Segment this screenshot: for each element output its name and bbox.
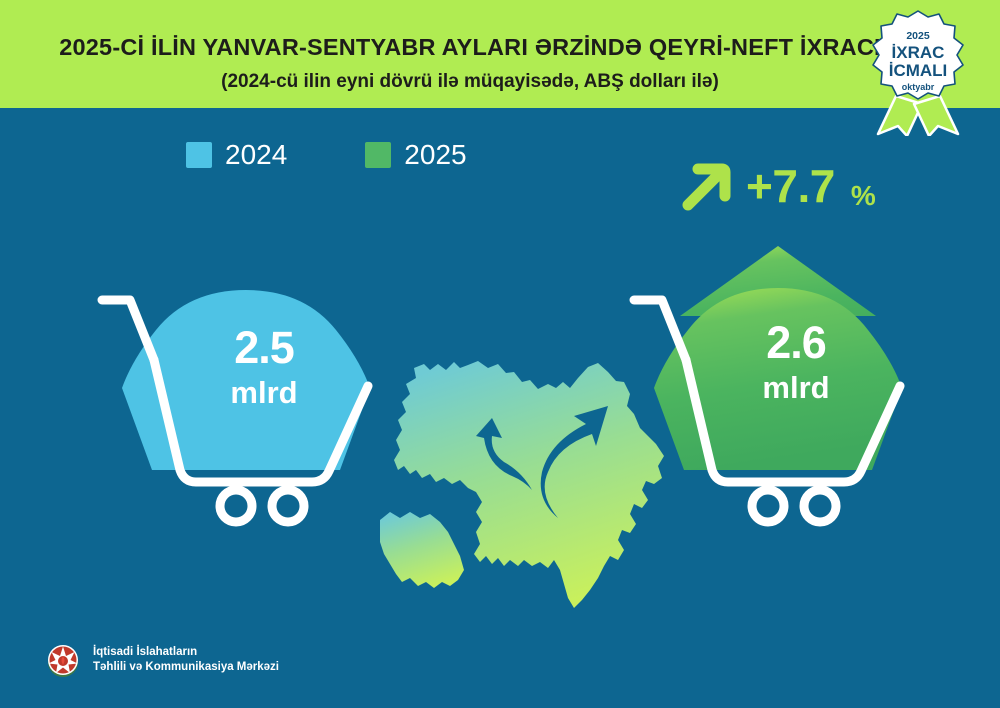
page-title: 2025-Cİ İLİN YANVAR-SENTYABR AYLARI ƏRZİ… <box>0 34 940 61</box>
cart-2025-unit: mlrd <box>696 372 896 403</box>
footer-logo: İqtisadi İslahatların Təhlili və Kommuni… <box>44 641 279 679</box>
badge-line2: İCMALI <box>889 61 948 80</box>
arrow-up-right-icon <box>676 158 732 214</box>
badge-year: 2025 <box>906 30 930 42</box>
badge-month: oktyabr <box>902 82 935 92</box>
legend-label-2025: 2025 <box>404 141 466 169</box>
cart-2024-wheels <box>220 490 304 522</box>
badge-line1: İXRAC <box>892 43 945 62</box>
badge-ribbons <box>878 96 958 136</box>
infographic-canvas: 2025-Cİ İLİN YANVAR-SENTYABR AYLARI ƏRZİ… <box>0 0 1000 708</box>
growth-indicator: +7.7 % <box>676 158 876 214</box>
legend-item-2025: 2025 <box>365 141 466 169</box>
growth-value: +7.7 <box>746 163 835 209</box>
ixrac-icmali-badge: 2025 İXRAC İCMALI oktyabr <box>866 8 970 136</box>
legend: 2024 2025 <box>186 141 467 169</box>
cart-2025-wheels <box>752 490 836 522</box>
legend-label-2024: 2024 <box>225 141 287 169</box>
azerbaijan-map <box>372 332 672 612</box>
cart-2024-value-group: 2.5 mlrd <box>164 325 364 408</box>
cart-2025-value: 2.6 <box>696 320 896 365</box>
map-landmass <box>380 361 664 608</box>
cart-2024-value: 2.5 <box>164 325 364 370</box>
header-band: 2025-Cİ İLİN YANVAR-SENTYABR AYLARI ƏRZİ… <box>0 0 1000 108</box>
footer-text: İqtisadi İslahatların Təhlili və Kommuni… <box>93 645 279 674</box>
footer-line-2: Təhlili və Kommunikasiya Mərkəzi <box>93 660 279 675</box>
growth-percent-sign: % <box>851 182 876 214</box>
footer-line-1: İqtisadi İslahatların <box>93 645 279 660</box>
cart-2025-value-group: 2.6 mlrd <box>696 320 896 403</box>
cart-2024-unit: mlrd <box>164 377 364 408</box>
square-swatch-icon <box>365 142 391 168</box>
page-subtitle: (2024-cü ilin eyni dövrü ilə müqayisədə,… <box>0 71 940 93</box>
square-swatch-icon <box>186 142 212 168</box>
state-emblem-icon <box>44 641 82 679</box>
legend-item-2024: 2024 <box>186 141 287 169</box>
